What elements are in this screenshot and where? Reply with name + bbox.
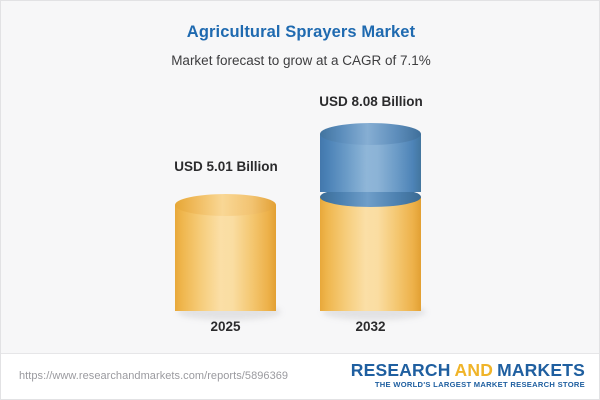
value-label-2032: USD 8.08 Billion [276, 94, 466, 109]
chart-subtitle: Market forecast to grow at a CAGR of 7.1… [1, 53, 600, 68]
value-label-2025: USD 5.01 Billion [131, 159, 321, 174]
bar-group-2025: USD 5.01 Billion 2025 [175, 1, 276, 353]
footer-bar: https://www.researchandmarkets.com/repor… [1, 353, 600, 400]
chart-area: Agricultural Sprayers Market Market fore… [1, 1, 600, 353]
logo-wordmark: RESEARCHANDMARKETS [351, 361, 585, 379]
logo-word-and: AND [451, 360, 498, 380]
category-label-2032: 2032 [320, 319, 421, 334]
market-infographic-card: Agricultural Sprayers Market Market fore… [0, 0, 600, 400]
brand-logo[interactable]: RESEARCHANDMARKETS THE WORLD'S LARGEST M… [351, 361, 585, 389]
bar-group-2032: USD 8.08 Billion 2032 [320, 1, 421, 353]
category-label-2025: 2025 [175, 319, 276, 334]
logo-tagline: THE WORLD'S LARGEST MARKET RESEARCH STOR… [351, 380, 585, 389]
logo-word-markets: MARKETS [497, 360, 585, 380]
chart-title: Agricultural Sprayers Market [1, 23, 600, 42]
report-url[interactable]: https://www.researchandmarkets.com/repor… [19, 370, 288, 382]
cylinder-body-gold [175, 205, 276, 311]
cylinder-top-cap [175, 194, 276, 216]
cylinder-top-cap [320, 123, 421, 145]
logo-word-research: RESEARCH [351, 360, 451, 380]
cylinder-body-gold [320, 197, 421, 311]
